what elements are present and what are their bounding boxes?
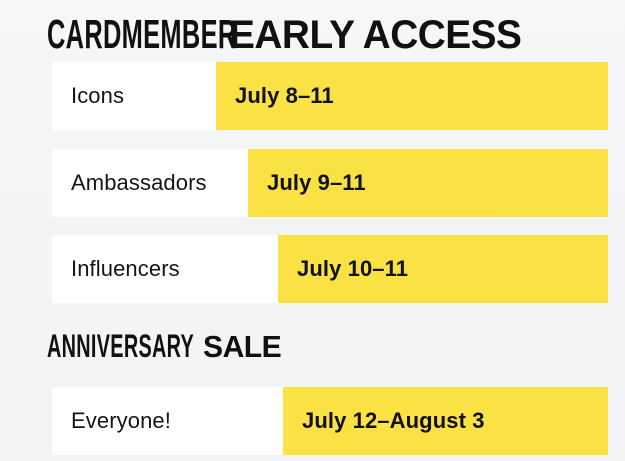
heading-word-sale: SALE [203,331,281,362]
section-heading-cardmember-early-access: CARDMEMBER EARLY ACCESS [47,14,531,55]
row-date-bar-icons: July 8–11 [216,62,608,130]
heading-word-anniversary: ANNIVERSARY [47,330,201,362]
schedule-row-influencers: Influencers July 10–11 [52,235,608,303]
row-label-cell-influencers: Influencers [52,235,278,303]
row-date-text: July 10–11 [297,256,408,282]
row-date-bar-influencers: July 10–11 [278,235,608,303]
heading-word-cardmember: CARDMEMBER [47,14,227,55]
row-label-text: Ambassadors [71,170,207,196]
row-date-text: July 12–August 3 [302,408,485,434]
row-label-cell-icons: Icons [52,62,216,130]
schedule-row-icons: Icons July 8–11 [52,62,608,130]
row-label-text: Icons [71,83,124,109]
heading-word-early-access: EARLY ACCESS [229,15,521,55]
row-label-cell-ambassadors: Ambassadors [52,149,248,217]
row-label-cell-everyone: Everyone! [52,387,283,455]
row-label-text: Everyone! [71,408,171,434]
schedule-row-ambassadors: Ambassadors July 9–11 [52,149,608,217]
row-date-bar-ambassadors: July 9–11 [248,149,608,217]
row-label-text: Influencers [71,256,180,282]
section-heading-anniversary-sale: ANNIVERSARY SALE [47,330,284,362]
row-date-text: July 9–11 [267,170,366,196]
promo-schedule-poster: CARDMEMBER EARLY ACCESS Icons July 8–11 … [0,0,625,461]
row-date-text: July 8–11 [235,83,334,109]
schedule-row-everyone: Everyone! July 12–August 3 [52,387,608,455]
row-date-bar-everyone: July 12–August 3 [283,387,608,455]
